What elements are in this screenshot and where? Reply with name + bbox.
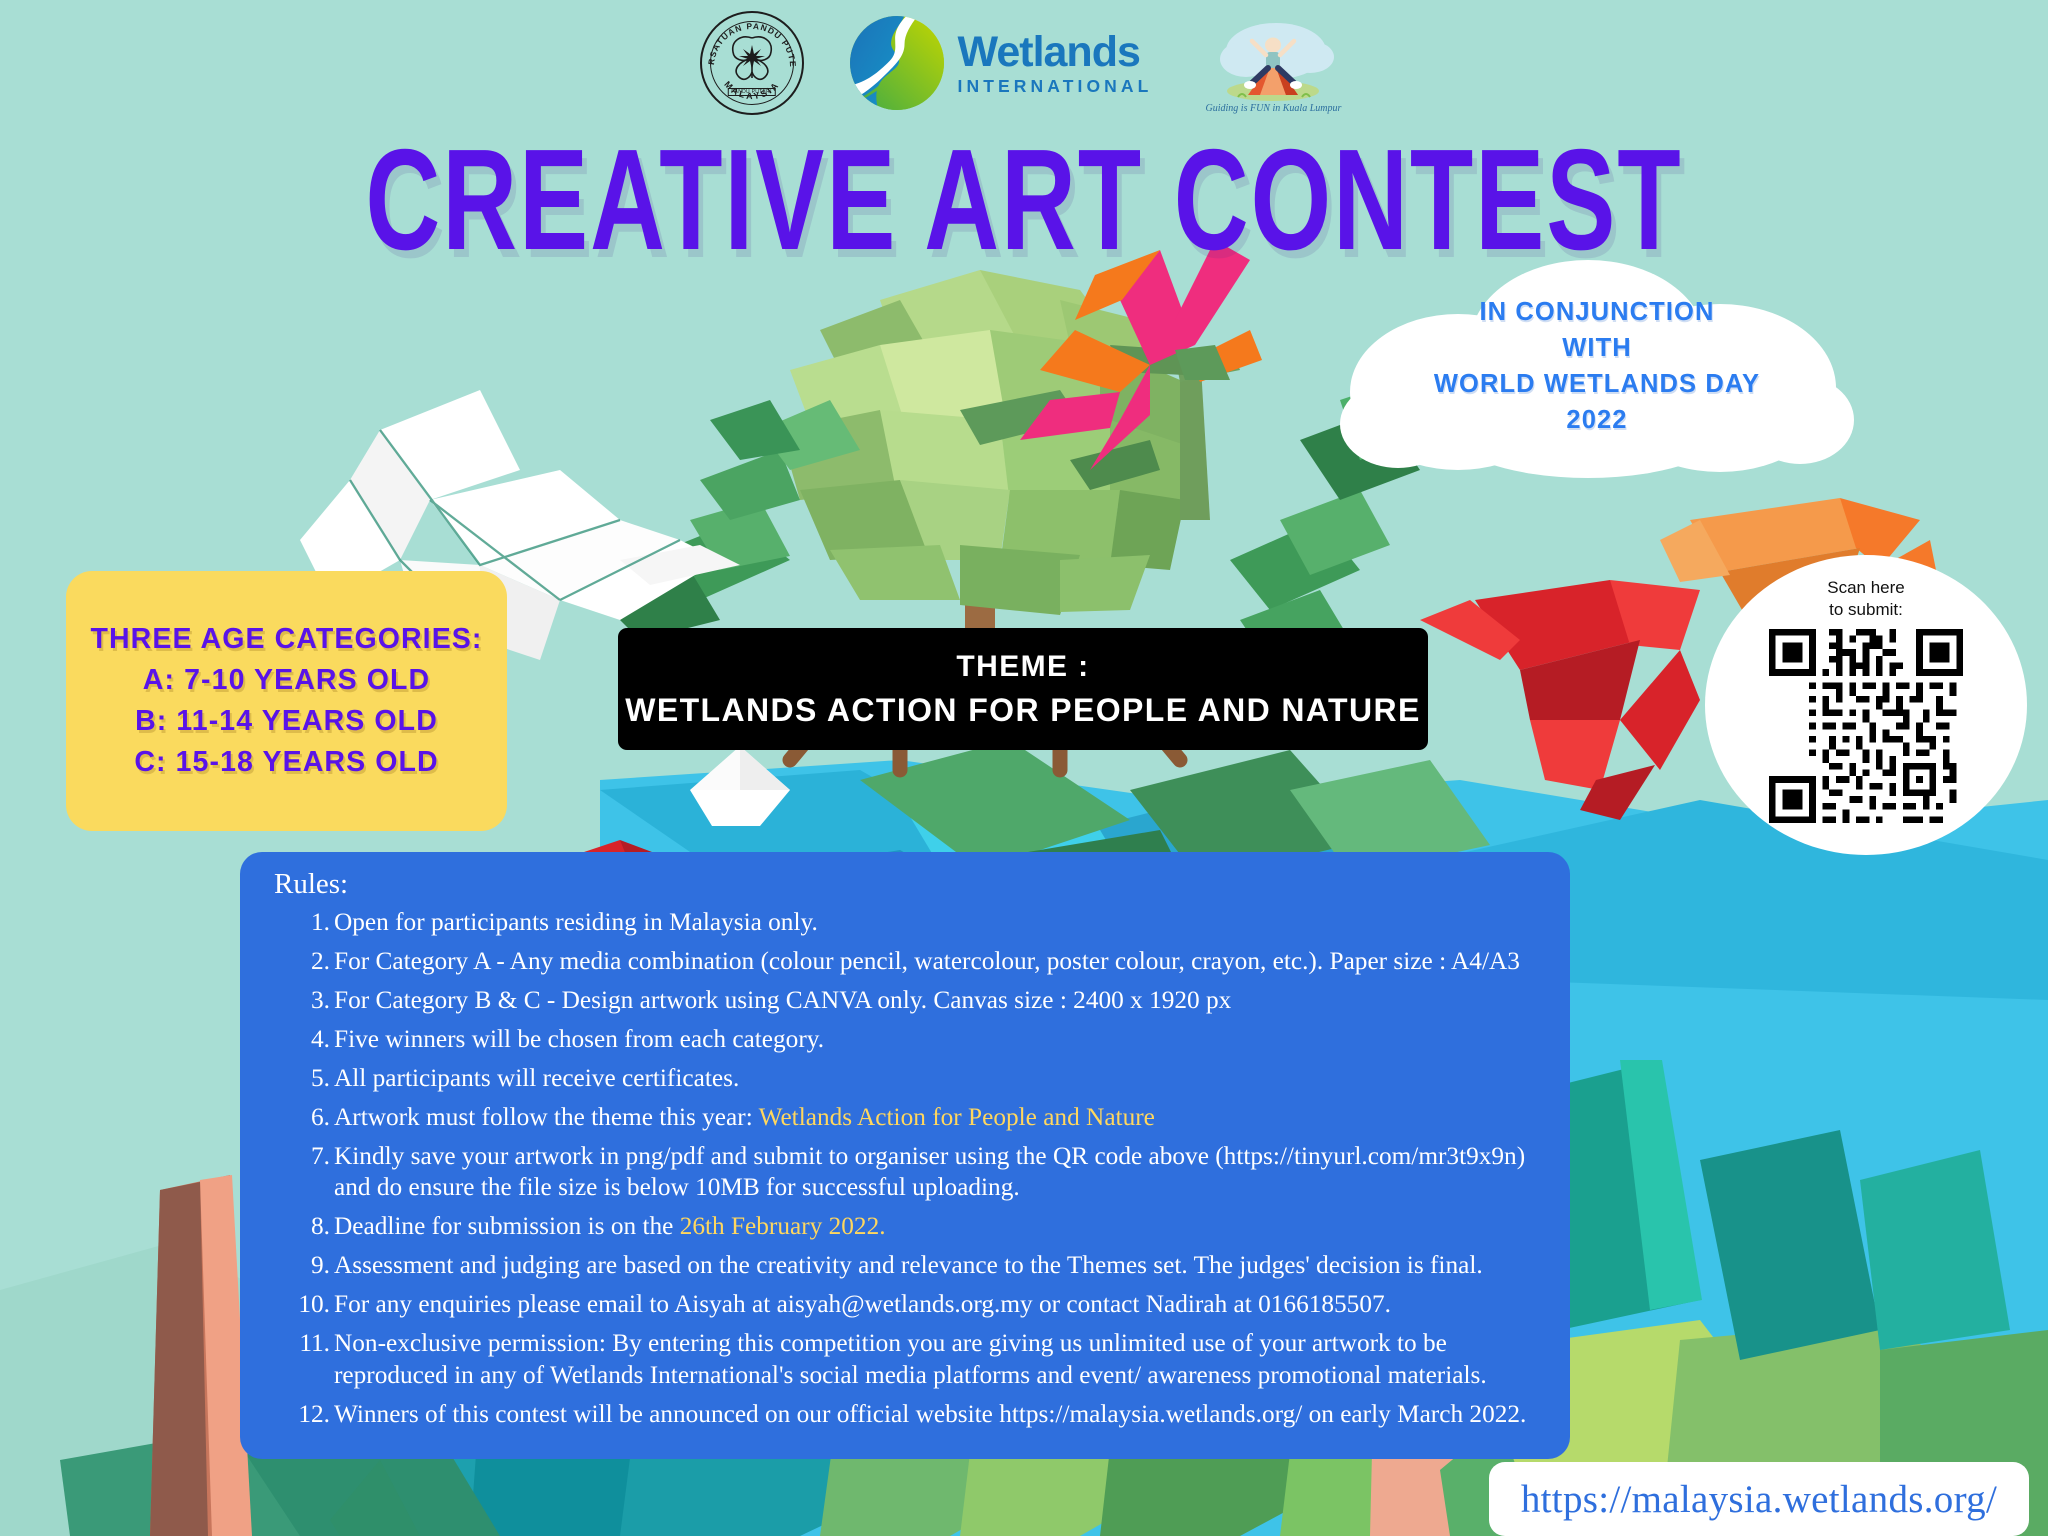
rules-heading: Rules:	[274, 868, 1544, 901]
age-category-c: C: 15-18 YEARS OLD	[134, 746, 438, 779]
wetlands-face-mark-icon	[850, 16, 944, 110]
rule-text: Non-exclusive permission: By entering th…	[334, 1329, 1487, 1388]
rule-item: For Category A - Any media combination (…	[334, 946, 1544, 977]
rule-item: Non-exclusive permission: By entering th…	[334, 1328, 1544, 1391]
rules-panel: Rules: Open for participants residing in…	[240, 852, 1570, 1459]
age-categories-heading: THREE AGE CATEGORIES:	[90, 623, 482, 656]
rule-text: Five winners will be chosen from each ca…	[334, 1025, 824, 1053]
rule-item: Assessment and judging are based on the …	[334, 1250, 1544, 1281]
rule-text: For any enquiries please email to Aisyah…	[334, 1290, 1391, 1318]
qr-caption-line-2: to submit:	[1829, 600, 1903, 619]
rule-item: Deadline for submission is on the 26th F…	[334, 1211, 1544, 1242]
cloud-line-3: WORLD WETLANDS DAY	[1434, 366, 1760, 402]
leaf-cluster-left	[600, 400, 860, 640]
cloud-line-4: 2022	[1566, 402, 1627, 438]
wetlands-subtitle: INTERNATIONAL	[958, 78, 1153, 96]
wetlands-wordmark: Wetlands INTERNATIONAL	[958, 31, 1153, 96]
website-url: https://malaysia.wetlands.org/	[1521, 1477, 1997, 1522]
rule-text: Assessment and judging are based on the …	[334, 1251, 1483, 1279]
wetlands-name: Wetlands	[958, 31, 1153, 74]
cloud-callout: IN CONJUNCTION WITH WORLD WETLANDS DAY 2…	[1338, 252, 1856, 480]
logo-ring-text: PERSATUAN PANDU PUTERI MALAYSIA	[702, 13, 802, 113]
paper-boat	[690, 746, 790, 826]
rule-highlight: Wetlands Action for People and Nature	[759, 1103, 1155, 1131]
rule-text: For Category A - Any media combination (…	[334, 947, 1520, 975]
rule-item: Open for participants residing in Malays…	[334, 907, 1544, 938]
cloud-line-2: WITH	[1562, 330, 1632, 366]
rule-highlight: 26th February 2022.	[680, 1212, 886, 1240]
svg-text:PERSATUAN PANDU PUTERI: PERSATUAN PANDU PUTERI	[702, 13, 798, 68]
website-url-pill[interactable]: https://malaysia.wetlands.org/	[1489, 1462, 2029, 1536]
rule-text: For Category B & C - Design artwork usin…	[334, 986, 1231, 1014]
rules-list: Open for participants residing in Malays…	[258, 907, 1544, 1430]
rule-text: Kindly save your artwork in png/pdf and …	[334, 1142, 1525, 1201]
age-categories-card: THREE AGE CATEGORIES: A: 7-10 YEARS OLD …	[66, 571, 507, 831]
logo-row: PANDU PUTERI PERSATUAN PANDU PUTERI MALA…	[0, 8, 2048, 118]
qr-submit-card[interactable]: Scan here to submit:	[1705, 555, 2027, 855]
origami-bird-red	[1420, 580, 1700, 820]
guiding-is-fun-logo: Guiding is FUN in Kuala Lumpur	[1198, 11, 1348, 115]
poster-canvas: PANDU PUTERI PERSATUAN PANDU PUTERI MALA…	[0, 0, 2048, 1536]
persatuan-pandu-puteri-malaysia-logo: PANDU PUTERI PERSATUAN PANDU PUTERI MALA…	[700, 11, 804, 115]
age-category-a: A: 7-10 YEARS OLD	[143, 664, 430, 697]
theme-value: WETLANDS ACTION FOR PEOPLE AND NATURE	[625, 692, 1421, 729]
svg-text:MALAYSIA: MALAYSIA	[722, 79, 781, 101]
rule-item: For any enquiries please email to Aisyah…	[334, 1289, 1544, 1320]
theme-bar: THEME : WETLANDS ACTION FOR PEOPLE AND N…	[618, 628, 1428, 750]
rule-item: Winners of this contest will be announce…	[334, 1399, 1544, 1430]
rule-text: Winners of this contest will be announce…	[334, 1400, 1526, 1428]
rule-text: Artwork must follow the theme this year:	[334, 1103, 759, 1131]
rule-item: Artwork must follow the theme this year:…	[334, 1102, 1544, 1133]
rule-item: All participants will receive certificat…	[334, 1063, 1544, 1094]
rule-text: All participants will receive certificat…	[334, 1064, 739, 1092]
qr-caption: Scan here to submit:	[1827, 577, 1905, 621]
cloud-text: IN CONJUNCTION WITH WORLD WETLANDS DAY 2…	[1338, 252, 1856, 480]
cloud-line-1: IN CONJUNCTION	[1480, 294, 1715, 330]
rule-text: Deadline for submission is on the	[334, 1212, 680, 1240]
guiding-caption: Guiding is FUN in Kuala Lumpur	[1198, 103, 1348, 114]
rule-item: Five winners will be chosen from each ca…	[334, 1024, 1544, 1055]
rule-item: Kindly save your artwork in png/pdf and …	[334, 1141, 1544, 1204]
wetlands-international-logo: Wetlands INTERNATIONAL	[850, 16, 1153, 110]
rule-text: Open for participants residing in Malays…	[334, 908, 818, 936]
rule-item: For Category B & C - Design artwork usin…	[334, 985, 1544, 1016]
qr-code-image[interactable]	[1769, 629, 1963, 823]
age-category-b: B: 11-14 YEARS OLD	[135, 705, 438, 738]
qr-caption-line-1: Scan here	[1827, 578, 1905, 597]
theme-label: THEME :	[956, 650, 1089, 684]
camping-scene-icon	[1198, 11, 1348, 115]
